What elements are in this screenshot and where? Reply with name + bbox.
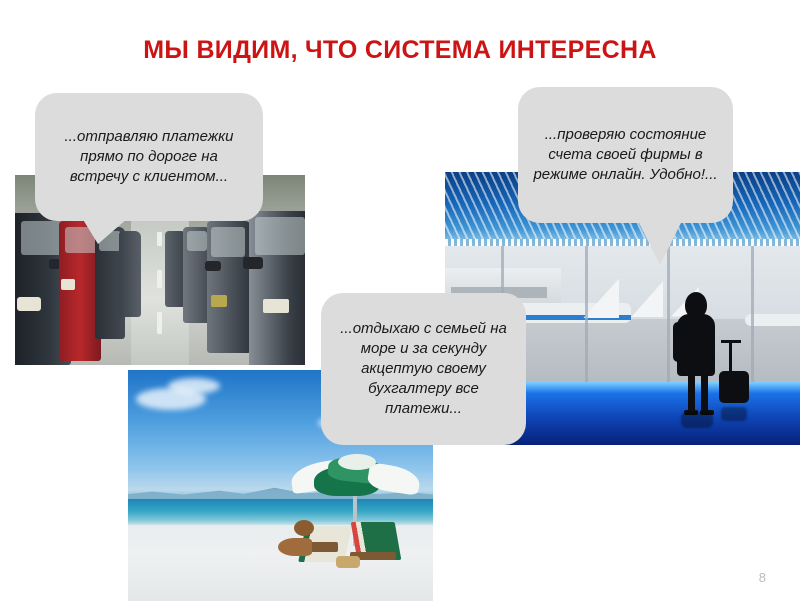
cloud: [168, 378, 220, 394]
side-mirror: [243, 257, 263, 269]
woman-silhouette-leg: [688, 374, 695, 414]
headlight: [61, 279, 75, 290]
person-on-chair: [278, 538, 312, 556]
suitcase-reflection: [721, 407, 747, 421]
slide: МЫ ВИДИМ, ЧТО СИСТЕМА ИНТЕРЕСНА: [0, 0, 800, 601]
headlight: [17, 297, 41, 311]
lane-dash: [157, 232, 162, 246]
speech-bubble-balance-text: ...проверяю состояние счета своей фирмы …: [532, 125, 719, 185]
car-window: [211, 227, 245, 257]
side-mirror: [205, 261, 221, 271]
beach-bag: [336, 556, 360, 568]
speech-bubble-commute: ...отправляю платежки прямо по дороге на…: [35, 93, 263, 221]
tail-light: [211, 295, 227, 307]
speech-bubble-balance: ...проверяю состояние счета своей фирмы …: [518, 87, 733, 223]
car-window: [187, 231, 207, 251]
sea: [128, 499, 433, 524]
woman-silhouette-arm: [673, 322, 683, 362]
speech-bubble-vacation-text: ...отдыхаю с семьей на море и за секунду…: [335, 319, 512, 419]
lane-dash: [157, 312, 162, 334]
page-number: 8: [759, 570, 766, 585]
lane-dash: [157, 270, 162, 288]
window-mullion: [585, 246, 588, 383]
window-mullion: [667, 246, 670, 383]
woman-silhouette-leg: [701, 374, 708, 414]
speech-bubble-commute-tail: [82, 218, 128, 244]
suitcase-handle: [729, 341, 732, 371]
page-title: МЫ ВИДИМ, ЧТО СИСТЕМА ИНТЕРЕСНА: [0, 36, 800, 65]
suitcase-handle-bar: [721, 340, 741, 343]
car-window: [255, 217, 305, 255]
speech-bubble-balance-tail: [638, 221, 682, 265]
window-mullion: [751, 246, 754, 383]
woman-reflection: [681, 412, 713, 428]
person-head: [294, 520, 314, 536]
speech-bubble-commute-text: ...отправляю платежки прямо по дороге на…: [49, 127, 249, 187]
suitcase-body: [719, 371, 749, 403]
headlight: [263, 299, 289, 313]
umbrella-top: [338, 454, 376, 470]
